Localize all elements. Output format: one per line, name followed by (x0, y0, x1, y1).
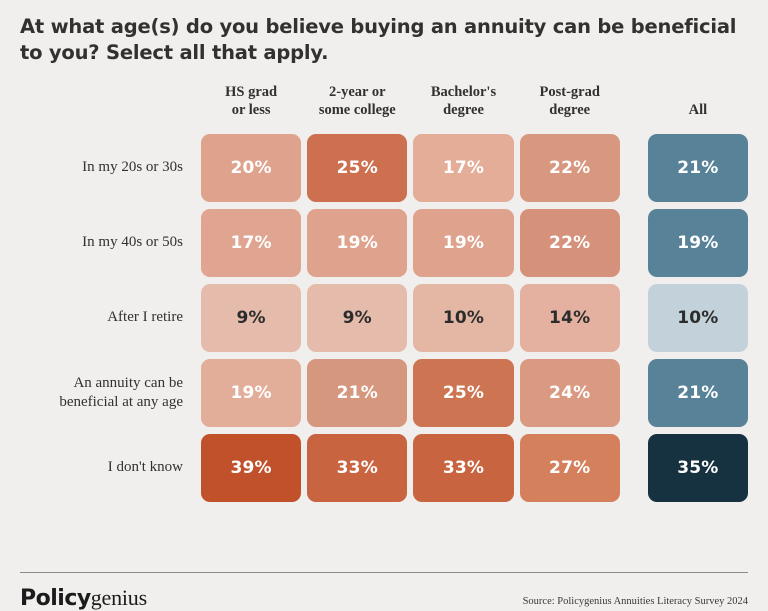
page-title: At what age(s) do you believe buying an … (0, 0, 768, 66)
column-gap-spacer (626, 359, 642, 427)
heatmap-cell-all[interactable]: 21% (648, 359, 748, 427)
heatmap-cell[interactable]: 17% (413, 134, 513, 202)
heatmap-cell[interactable]: 39% (201, 434, 301, 502)
heatmap-cell[interactable]: 19% (413, 209, 513, 277)
heatmap-cell[interactable]: 19% (201, 359, 301, 427)
footer: Policygenius Source: Policygenius Annuit… (0, 572, 768, 610)
heatmap-cell[interactable]: 9% (201, 284, 301, 352)
heatmap-cell[interactable]: 21% (307, 359, 407, 427)
row-label-in-my-20s-or-30s: In my 20s or 30s (20, 134, 195, 202)
row-label-i-dont-know: I don't know (20, 434, 195, 502)
heatmap-cell[interactable]: 19% (307, 209, 407, 277)
source-note: Source: Policygenius Annuities Literacy … (523, 596, 748, 610)
column-gap-spacer (626, 284, 642, 352)
column-header-post-grad-degree: Post-grad degree (520, 78, 620, 127)
row-label-in-my-40s-or-50s: In my 40s or 50s (20, 209, 195, 277)
column-gap-spacer (626, 78, 642, 127)
heatmap-cell[interactable]: 22% (520, 134, 620, 202)
heatmap-cell[interactable]: 25% (413, 359, 513, 427)
policygenius-logo: Policygenius (20, 587, 147, 610)
heatmap-chart: HS grad or less 2-year or some college B… (0, 78, 768, 566)
column-header-bachelors-degree: Bachelor's degree (413, 78, 513, 127)
heatmap-cell[interactable]: 22% (520, 209, 620, 277)
column-header-2-year-or-some-college: 2-year or some college (307, 78, 407, 127)
heatmap-cell-all[interactable]: 21% (648, 134, 748, 202)
row-label-after-i-retire: After I retire (20, 284, 195, 352)
column-header-hs-grad-or-less: HS grad or less (201, 78, 301, 127)
heatmap-cell-all[interactable]: 35% (648, 434, 748, 502)
infographic-page: At what age(s) do you believe buying an … (0, 0, 768, 610)
column-gap-spacer (626, 209, 642, 277)
heatmap-cell-all[interactable]: 19% (648, 209, 748, 277)
column-header-all: All (648, 78, 748, 127)
heatmap-corner-cell (20, 78, 195, 127)
column-gap-spacer (626, 434, 642, 502)
heatmap-cell[interactable]: 24% (520, 359, 620, 427)
heatmap-cell[interactable]: 33% (413, 434, 513, 502)
heatmap-cell[interactable]: 14% (520, 284, 620, 352)
logo-text-primary: Policy (20, 586, 91, 611)
heatmap-grid: HS grad or less 2-year or some college B… (20, 78, 748, 502)
heatmap-cell[interactable]: 17% (201, 209, 301, 277)
heatmap-cell[interactable]: 27% (520, 434, 620, 502)
column-gap-spacer (626, 134, 642, 202)
heatmap-cell-all[interactable]: 10% (648, 284, 748, 352)
row-label-an-annuity-can-be-beneficial-at-any-age: An annuity can be beneficial at any age (20, 359, 195, 427)
logo-text-secondary: genius (91, 585, 147, 610)
footer-row: Policygenius Source: Policygenius Annuit… (20, 573, 748, 610)
heatmap-cell[interactable]: 20% (201, 134, 301, 202)
heatmap-cell[interactable]: 33% (307, 434, 407, 502)
heatmap-cell[interactable]: 10% (413, 284, 513, 352)
heatmap-cell[interactable]: 25% (307, 134, 407, 202)
heatmap-cell[interactable]: 9% (307, 284, 407, 352)
